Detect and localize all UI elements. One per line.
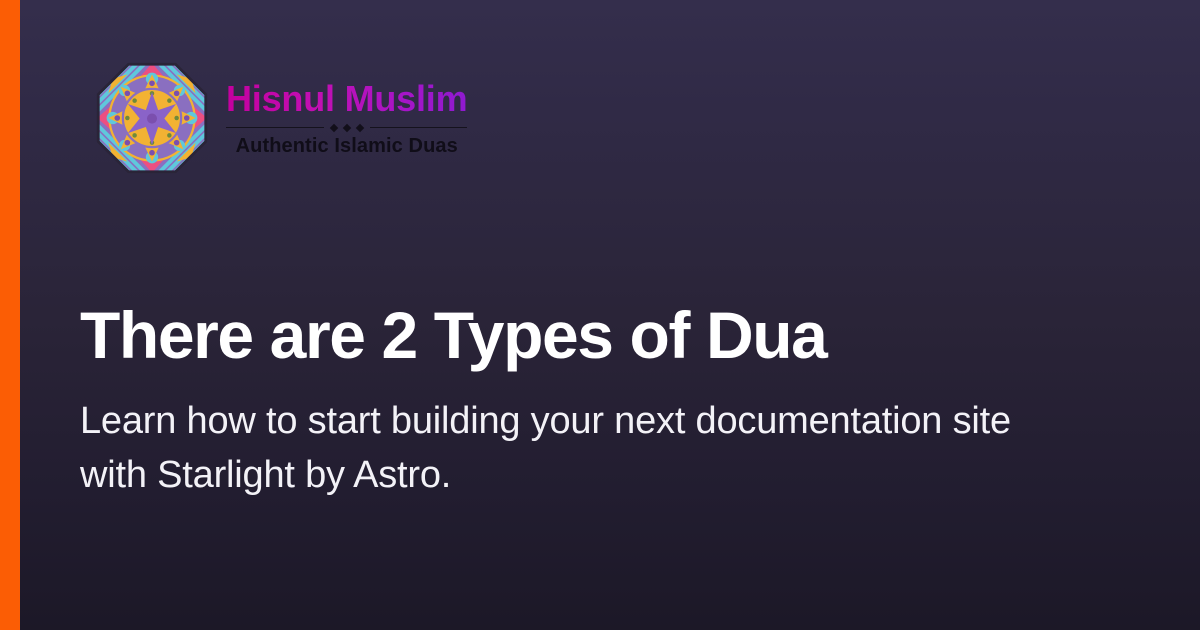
logo-text-block: Hisnul Muslim Authentic Islamic Duas bbox=[226, 78, 467, 158]
logo-subtitle: Authentic Islamic Duas bbox=[226, 135, 467, 158]
og-card: Hisnul Muslim Authentic Islamic Duas The… bbox=[0, 0, 1200, 630]
logo-divider bbox=[226, 125, 467, 131]
logo-title: Hisnul Muslim bbox=[226, 80, 467, 118]
site-logo[interactable]: Hisnul Muslim Authentic Islamic Duas bbox=[96, 62, 467, 174]
divider-diamond-icon bbox=[329, 124, 337, 132]
divider-rule-left bbox=[226, 127, 324, 128]
left-accent-bar bbox=[0, 0, 20, 630]
divider-diamond-icon bbox=[355, 124, 363, 132]
divider-rule-right bbox=[370, 127, 468, 128]
page-title: There are 2 Types of Dua bbox=[80, 300, 1120, 371]
mandala-icon bbox=[96, 62, 208, 174]
hero-copy: There are 2 Types of Dua Learn how to st… bbox=[80, 300, 1120, 503]
divider-diamond-icon bbox=[342, 124, 350, 132]
page-subtitle: Learn how to start building your next do… bbox=[80, 395, 1060, 503]
